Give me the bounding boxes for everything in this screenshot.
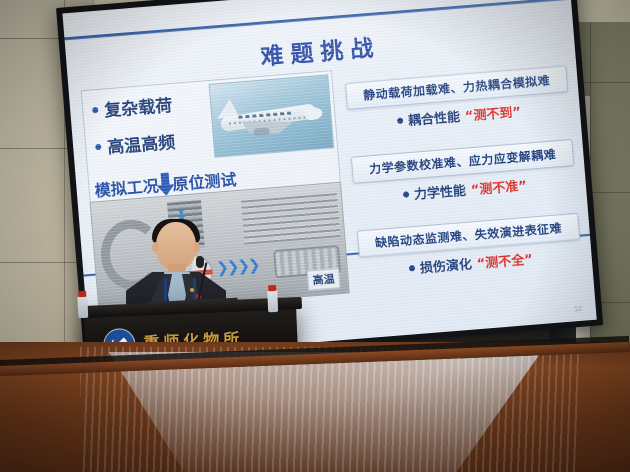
bullet-dot-icon <box>92 106 98 112</box>
block-sub-label: 耦合性能 <box>407 106 460 129</box>
speaker-ear-left <box>152 242 159 253</box>
bullet-dot-icon <box>403 191 409 197</box>
speaker-head <box>156 222 196 270</box>
bullet-dot-icon <box>95 143 101 149</box>
bullet-label: 高温高频 <box>106 128 176 158</box>
block-sub-label: 力学性能 <box>413 180 466 203</box>
bullet-dot-icon <box>409 265 415 271</box>
aircraft-nose <box>304 106 324 121</box>
aircraft-photo <box>209 74 335 157</box>
bullet-dot-icon <box>397 117 403 123</box>
apparatus-grid <box>241 193 340 245</box>
water-bottle-right <box>267 290 278 312</box>
water-bottle-left <box>77 296 88 318</box>
left-bullet-list: 复杂载荷 高温高频 <box>91 88 217 171</box>
apparatus-label: 高温 <box>307 268 341 291</box>
block-sub-quote: “测不准” <box>470 175 527 198</box>
aircraft-engine <box>253 127 270 136</box>
bullet-label: 复杂载荷 <box>103 91 173 121</box>
challenge-block-3: 缺陷动态监测难、失效演进表征难 损伤演化 “测不全” <box>357 213 582 282</box>
speaker-ear-right <box>193 242 200 253</box>
list-item: 高温高频 <box>94 125 216 160</box>
block-sub-quote: “测不全” <box>476 249 533 272</box>
conference-hall-photo: 难题挑战 复杂载荷 高温高频 <box>0 0 630 472</box>
microphone-head <box>196 256 204 268</box>
challenge-block-1: 静动载荷加载难、力热耦合模拟难 耦合性能 “测不到” <box>345 65 570 134</box>
challenge-block-2: 力学参数校准难、应力应变解耦难 力学性能 “测不准” <box>351 139 576 208</box>
block-sub-label: 损伤演化 <box>419 254 472 277</box>
slide-page-number: 12 <box>574 306 582 314</box>
lapel-pin-gold <box>190 288 194 292</box>
block-sub-quote: “测不到” <box>464 101 521 124</box>
